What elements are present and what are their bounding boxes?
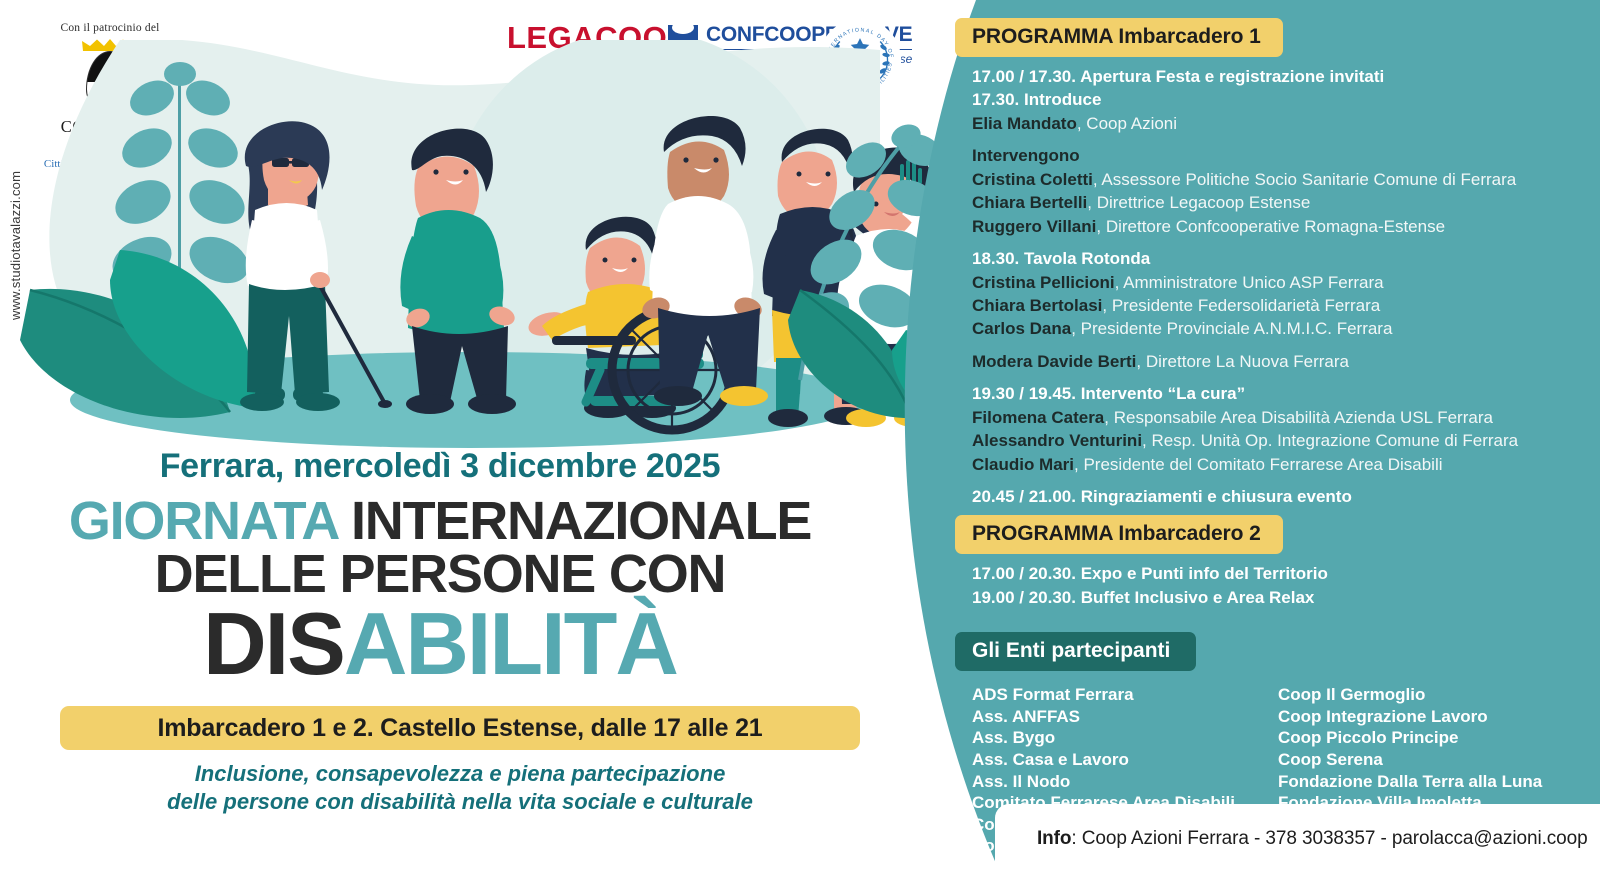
spacer	[972, 374, 1580, 383]
program-person-name: Chiara Bertelli	[972, 193, 1087, 212]
title-dis: DIS	[203, 594, 344, 693]
program-row: Chiara Bertelli, Direttrice Legacoop Est…	[972, 192, 1580, 214]
spacer	[972, 342, 1580, 351]
program-content: PROGRAMMA Imbarcadero 1 17.00 / 17.30. A…	[955, 18, 1580, 873]
program-row: Modera Davide Berti, Direttore La Nuova …	[972, 351, 1580, 373]
program-row: 20.45 / 21.00. Ringraziamenti e chiusura…	[972, 486, 1580, 508]
patronage-label: Con il patrocinio del	[20, 22, 200, 34]
title-accent-giornata: GIORNATA	[69, 491, 337, 551]
program-person-name: Davide Berti	[1037, 352, 1136, 371]
program-person-role: , Presidente Provinciale A.N.M.I.C. Ferr…	[1071, 319, 1392, 338]
program-row: Claudio Mari, Presidente del Comitato Fe…	[972, 454, 1580, 476]
programma-1-list: 17.00 / 17.30. Apertura Festa e registra…	[972, 66, 1580, 508]
program-time: 17.30. Introduce	[972, 90, 1101, 109]
program-row: 19.00 / 20.30. Buffet Inclusivo e Area R…	[972, 587, 1580, 609]
enti-list-item: Fondazione Dalla Terra alla Luna	[1278, 771, 1572, 793]
right-panel: PROGRAMMA Imbarcadero 1 17.00 / 17.30. A…	[880, 0, 1600, 873]
title-line-1: GIORNATA INTERNAZIONALE	[0, 495, 880, 547]
info-body: : Coop Azioni Ferrara - 378 3038357 - pa…	[1071, 828, 1587, 849]
program-row: Carlos Dana, Presidente Provinciale A.N.…	[972, 318, 1580, 340]
poster-root: www.studiotavalazzi.com Con il patrocini…	[0, 0, 1600, 873]
program-person-role: , Responsabile Area Disabilità Azienda U…	[1104, 408, 1493, 427]
program-time: 17.00 / 17.30. Apertura Festa e registra…	[972, 67, 1384, 86]
program-person-name: Cristina Coletti	[972, 170, 1093, 189]
program-person-role: , Coop Azioni	[1077, 114, 1177, 133]
spacer	[972, 477, 1580, 486]
program-person-role: , Presidente del Comitato Ferrarese Area…	[1074, 455, 1443, 474]
program-person-name: Chiara Bertolasi	[972, 296, 1102, 315]
program-row: Elia Mandato, Coop Azioni	[972, 113, 1580, 135]
programma-2-list: 17.00 / 20.30. Expo e Punti info del Ter…	[972, 563, 1580, 609]
tagline-line-2: delle persone con disabilità nella vita …	[60, 788, 860, 816]
info-text: Info: Coop Azioni Ferrara - 378 3038357 …	[995, 828, 1588, 850]
enti-list-item: Coop Il Germoglio	[1278, 684, 1572, 706]
program-row: Cristina Coletti, Assessore Politiche So…	[972, 169, 1580, 191]
program-row: 19.30 / 19.45. Intervento “La cura”	[972, 383, 1580, 405]
program-person-role: , Direttore La Nuova Ferrara	[1136, 352, 1349, 371]
venue-bar: Imbarcadero 1 e 2. Castello Estense, dal…	[60, 706, 860, 750]
program-person-name: Ruggero Villani	[972, 217, 1096, 236]
program-person-role: , Assessore Politiche Socio Sanitarie Co…	[1093, 170, 1516, 189]
enti-list-item: Ass. Bygo	[972, 727, 1272, 749]
enti-list-item: Coop Integrazione Lavoro	[1278, 706, 1572, 728]
program-time: 19.30 / 19.45. Intervento “La cura”	[972, 384, 1245, 403]
program-person-name: Alessandro Venturini	[972, 431, 1142, 450]
spacer	[972, 136, 1580, 145]
program-row: 17.00 / 17.30. Apertura Festa e registra…	[972, 66, 1580, 88]
enti-list-item: Ass. Il Nodo	[972, 771, 1272, 793]
enti-list-item: ADS Format Ferrara	[972, 684, 1272, 706]
info-label: Info	[1037, 828, 1071, 849]
program-section-head: Intervengono	[972, 146, 1080, 165]
program-person-name: Cristina Pellicioni	[972, 273, 1115, 292]
program-moderator-prefix: Modera	[972, 352, 1037, 371]
program-person-name: Filomena Catera	[972, 408, 1104, 427]
spacer	[972, 239, 1580, 248]
enti-list-item: Ass. Casa e Lavoro	[972, 749, 1272, 771]
program-person-role: , Amministratore Unico ASP Ferrara	[1115, 273, 1384, 292]
program-person-name: Elia Mandato	[972, 114, 1077, 133]
enti-list-item: Coop Piccolo Principe	[1278, 727, 1572, 749]
program-row: Chiara Bertolasi, Presidente Federsolida…	[972, 295, 1580, 317]
enti-list-item: Ass. ANFFAS	[972, 706, 1272, 728]
tagline-line-1: Inclusione, consapevolezza e piena parte…	[60, 760, 860, 788]
program-person-role: , Presidente Federsolidarietà Ferrara	[1102, 296, 1380, 315]
enti-list-item: Coop Serena	[1278, 749, 1572, 771]
program-person-name: Claudio Mari	[972, 455, 1074, 474]
program-person-role: , Direttore Confcooperative Romagna-Este…	[1096, 217, 1445, 236]
program-row: Filomena Catera, Responsabile Area Disab…	[972, 407, 1580, 429]
program-time: 17.00 / 20.30. Expo e Punti info del Ter…	[972, 564, 1328, 583]
program-row: Alessandro Venturini, Resp. Unità Op. In…	[972, 430, 1580, 452]
left-panel: www.studiotavalazzi.com Con il patrocini…	[0, 0, 940, 873]
program-row: Intervengono	[972, 145, 1580, 167]
enti-title: Gli Enti partecipanti	[955, 632, 1196, 671]
program-row: 17.00 / 20.30. Expo e Punti info del Ter…	[972, 563, 1580, 585]
programma-1-title: PROGRAMMA Imbarcadero 1	[955, 18, 1283, 57]
title-line-3: DISABILITÀ	[0, 600, 880, 688]
venue-text: Imbarcadero 1 e 2. Castello Estense, dal…	[157, 714, 762, 743]
program-time: 20.45 / 21.00. Ringraziamenti e chiusura…	[972, 487, 1352, 506]
program-person-name: Carlos Dana	[972, 319, 1071, 338]
title-rest-internazionale: INTERNAZIONALE	[337, 491, 811, 551]
headline-block: Ferrara, mercoledì 3 dicembre 2025 GIORN…	[0, 448, 880, 688]
info-box: Info: Coop Azioni Ferrara - 378 3038357 …	[995, 804, 1600, 873]
program-row: 17.30. Introduce	[972, 89, 1580, 111]
program-row: Ruggero Villani, Direttore Confcooperati…	[972, 216, 1580, 238]
program-time: 18.30. Tavola Rotonda	[972, 249, 1150, 268]
program-person-role: , Resp. Unità Op. Integrazione Comune di…	[1142, 431, 1518, 450]
title-abilita: ABILITÀ	[344, 594, 677, 693]
program-row: 18.30. Tavola Rotonda	[972, 248, 1580, 270]
program-time: 19.00 / 20.30. Buffet Inclusivo e Area R…	[972, 588, 1314, 607]
programma-2-title: PROGRAMMA Imbarcadero 2	[955, 515, 1283, 554]
program-row: Cristina Pellicioni, Amministratore Unic…	[972, 272, 1580, 294]
program-person-role: , Direttrice Legacoop Estense	[1087, 193, 1310, 212]
event-date: Ferrara, mercoledì 3 dicembre 2025	[0, 448, 880, 485]
people-illustration	[0, 40, 940, 460]
tagline-block: Inclusione, consapevolezza e piena parte…	[60, 760, 860, 816]
title-line-2: DELLE PERSONE CON	[0, 548, 880, 600]
